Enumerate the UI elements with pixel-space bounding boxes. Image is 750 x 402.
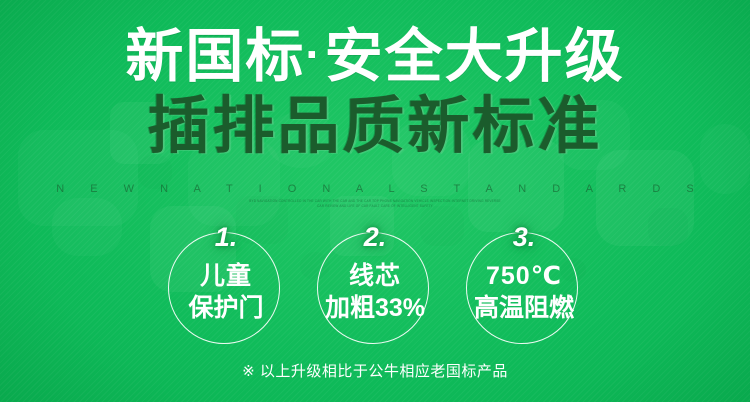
- badge-text: 儿童 保护门: [168, 260, 284, 324]
- promo-banner: 新国标·安全大升级 插排品质新标准 N E W N A T I O N A L …: [0, 0, 750, 402]
- headline-primary-part1: 新国标: [125, 24, 305, 89]
- badge-number: 2.: [317, 222, 433, 252]
- badge-text-line2: 加粗33%: [317, 292, 433, 324]
- headline-primary: 新国标·安全大升级: [0, 22, 750, 89]
- feature-badge-group: 1. 儿童 保护门 2. 线芯 加粗33% 3. 750℃ 高: [0, 232, 750, 350]
- decorative-microtext-line2: CAR REVIEW AND LIFE OF CAR FAULT CARE OF…: [0, 204, 750, 209]
- decorative-microtext-line1: BYD NAVIGATION CONTROLLED IN THE CAR WIT…: [249, 199, 501, 203]
- feature-badge-2: 2. 线芯 加粗33%: [317, 232, 433, 348]
- badge-text: 750℃ 高温阻燃: [466, 260, 582, 324]
- feature-badge-3: 3. 750℃ 高温阻燃: [466, 232, 582, 348]
- badge-number: 3.: [466, 222, 582, 252]
- headline-primary-part2: 安全大升级: [325, 24, 625, 89]
- headline-secondary: 插排品质新标准: [0, 92, 750, 162]
- feature-badge-1: 1. 儿童 保护门: [168, 232, 284, 348]
- badge-text-line1: 线芯: [317, 260, 433, 292]
- badge-text: 线芯 加粗33%: [317, 260, 433, 324]
- badge-text-line2: 保护门: [168, 292, 284, 324]
- badge-text-line1: 儿童: [168, 260, 284, 292]
- badge-text-line2: 高温阻燃: [466, 292, 582, 324]
- decorative-microtext: BYD NAVIGATION CONTROLLED IN THE CAR WIT…: [0, 199, 750, 210]
- badge-number: 1.: [168, 222, 284, 252]
- headline-separator-dot: ·: [305, 28, 324, 80]
- disclaimer-footnote: ※ 以上升级相比于公牛相应老国标产品: [0, 362, 750, 382]
- eyebrow-english-caption: N E W N A T I O N A L S T A N D A R D S: [0, 182, 750, 196]
- badge-text-line1: 750℃: [466, 260, 582, 292]
